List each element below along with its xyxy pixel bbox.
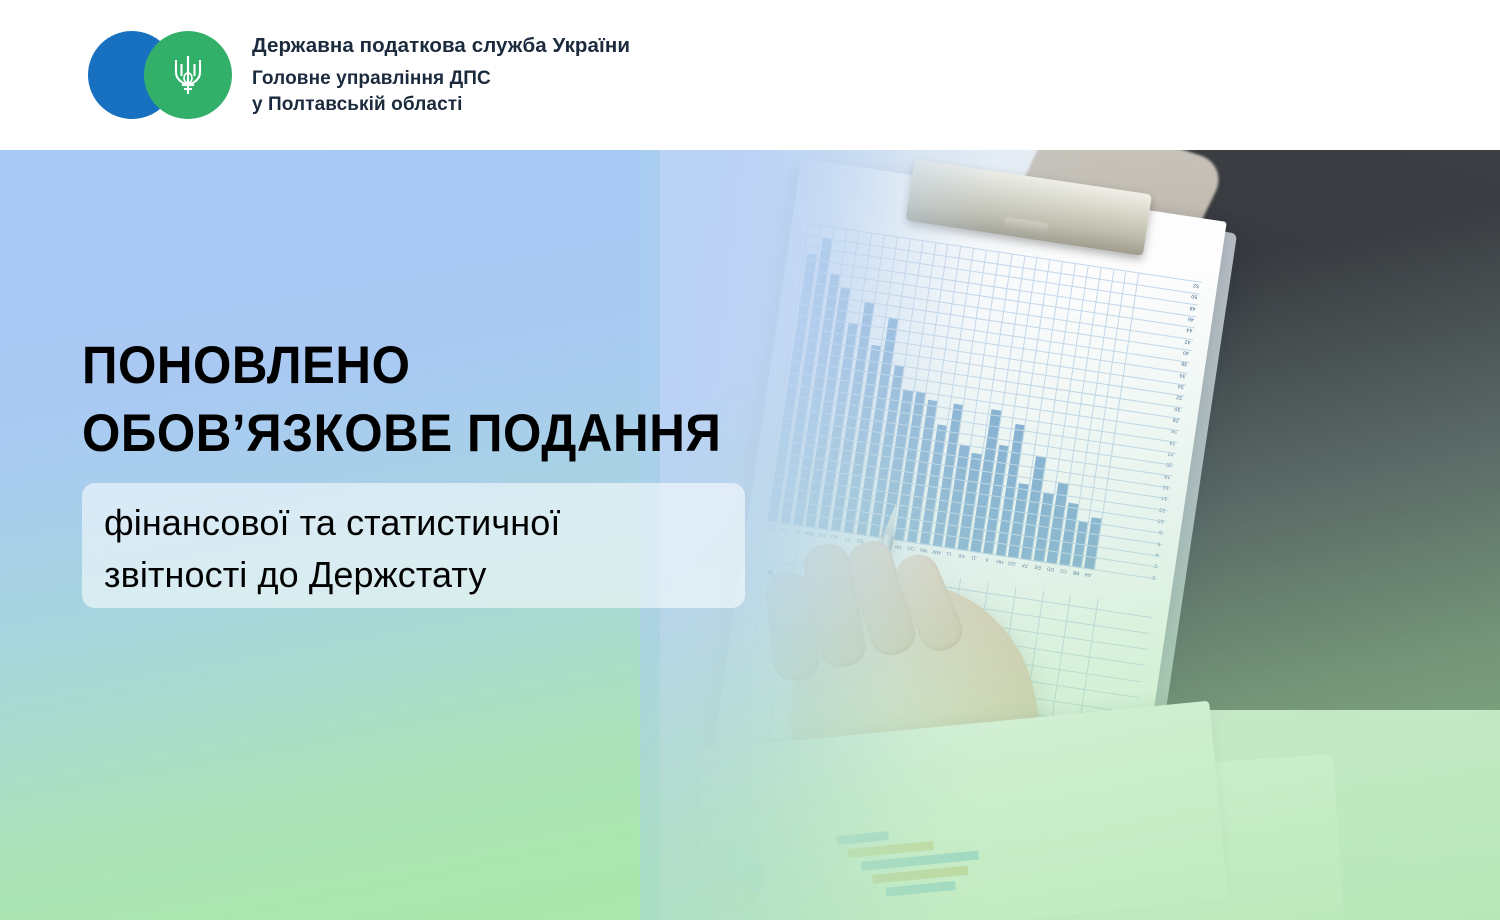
- org-name-line3: у Полтавській області: [252, 92, 630, 117]
- headline-line-1: ПОНОВЛЕНО: [82, 332, 721, 400]
- banner-root: Державна податкова служба України Головн…: [0, 0, 1500, 920]
- hero-text-block: ПОНОВЛЕНО ОБОВ’ЯЗКОВЕ ПОДАННЯ фінансової…: [0, 150, 1500, 920]
- subtitle: фінансової та статистичної звітності до …: [104, 497, 560, 601]
- logo-text: Державна податкова служба України Головн…: [252, 33, 630, 117]
- ukraine-trident-icon: [170, 52, 206, 98]
- hero-stage: 0246810121416182022242628303234363840424…: [0, 150, 1500, 920]
- logo-lockup: Державна податкова служба України Головн…: [0, 31, 630, 119]
- headline-line-2: ОБОВ’ЯЗКОВЕ ПОДАННЯ: [82, 400, 721, 468]
- logo-marks: [88, 31, 210, 119]
- site-header: Державна податкова служба України Головн…: [0, 0, 1500, 150]
- headline: ПОНОВЛЕНО ОБОВ’ЯЗКОВЕ ПОДАННЯ: [82, 332, 721, 468]
- subtitle-line-2: звітності до Держстату: [104, 549, 560, 601]
- logo-green-circle: [144, 31, 232, 119]
- subtitle-line-1: фінансової та статистичної: [104, 497, 560, 549]
- org-name-line1: Державна податкова служба України: [252, 33, 630, 59]
- org-name-line2: Головне управління ДПС: [252, 66, 630, 91]
